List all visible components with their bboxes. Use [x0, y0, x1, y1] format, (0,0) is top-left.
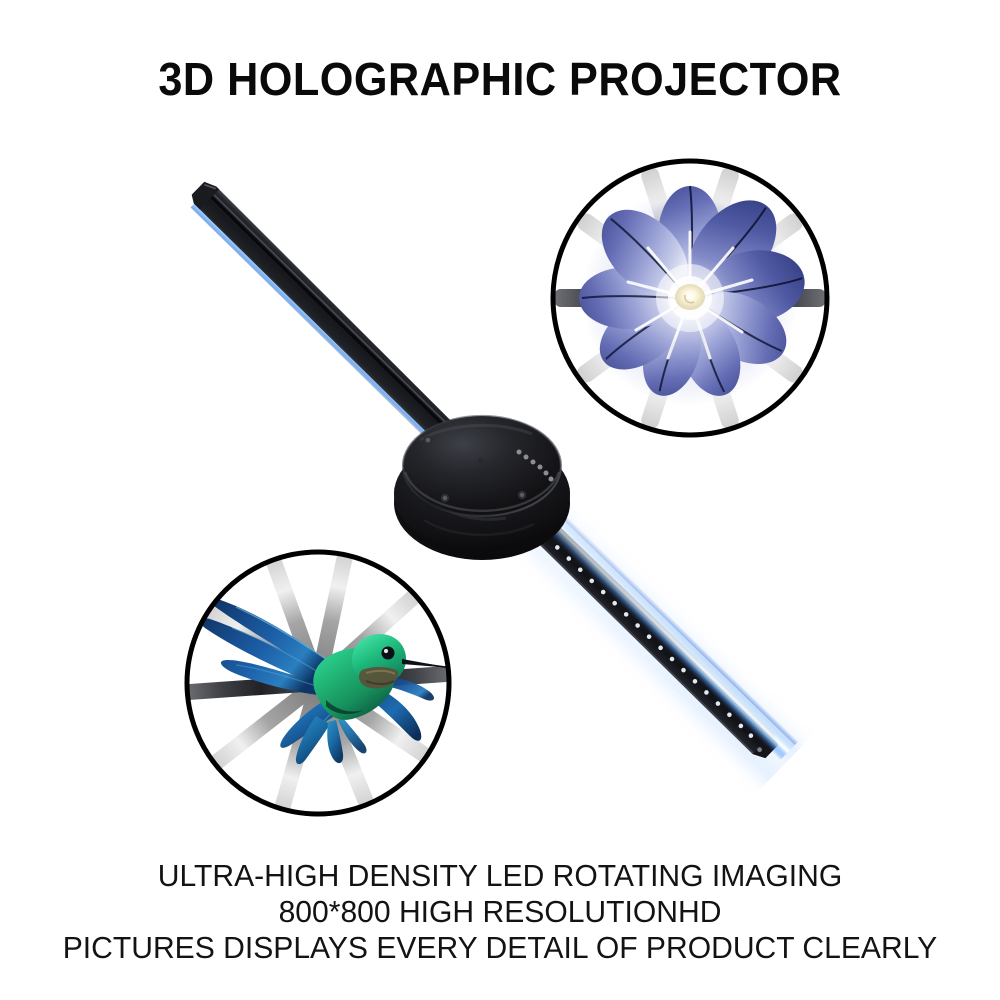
caption-line-3: PICTURES DISPLAYS EVERY DETAIL OF PRODUC…	[15, 930, 985, 966]
motor-hub-top	[403, 416, 561, 516]
caption-line-2: 800*800 HIGH RESOLUTIONHD	[15, 894, 985, 930]
product-marketing-image: 3D HOLOGRAPHIC PROJECTOR	[0, 0, 1000, 1000]
caption-block: ULTRA-HIGH DENSITY LED ROTATING IMAGING …	[0, 858, 1000, 966]
hologram-preview-hummingbird	[184, 550, 452, 816]
product-artwork-svg	[0, 0, 1000, 1000]
product-illustration	[0, 0, 1000, 1000]
bird-eye	[382, 647, 395, 660]
hologram-preview-flower	[548, 156, 832, 440]
caption-line-1: ULTRA-HIGH DENSITY LED ROTATING IMAGING	[15, 858, 985, 894]
